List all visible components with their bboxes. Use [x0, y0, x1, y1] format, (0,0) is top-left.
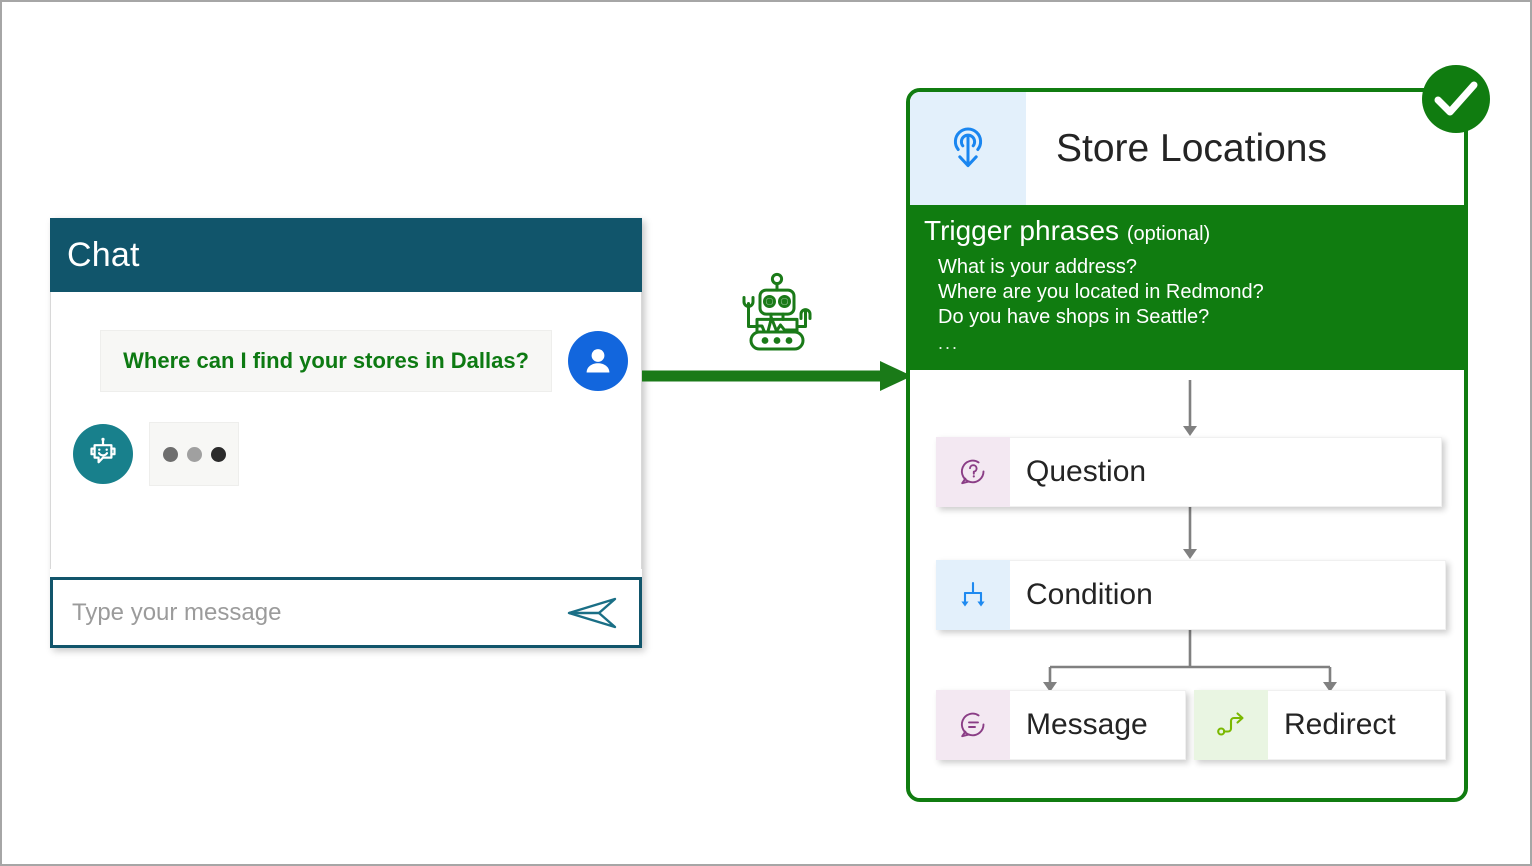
redirect-arrow-icon: [1215, 710, 1247, 740]
trigger-phrases-list: What is your address? Where are you loca…: [938, 255, 1464, 355]
flow-node-condition[interactable]: Condition: [936, 560, 1446, 630]
topic-title-bar: Store Locations: [910, 92, 1464, 205]
trigger-phrases-section: Trigger phrases (optional) What is your …: [910, 205, 1464, 370]
trigger-pin-icon: [944, 123, 992, 175]
message-bubble-icon: [957, 709, 989, 741]
chat-title: Chat: [67, 236, 140, 275]
user-avatar: [568, 331, 628, 391]
typing-dot: [163, 447, 178, 462]
green-arrow-right: [642, 358, 914, 394]
send-icon: [566, 596, 620, 630]
typing-dot: [187, 447, 202, 462]
trigger-phrases-optional-label: (optional): [1127, 223, 1210, 245]
check-circle-bg: [1422, 65, 1490, 133]
send-button[interactable]: [565, 591, 621, 635]
user-message-text: Where can I find your stores in Dallas?: [123, 348, 529, 373]
topic-card[interactable]: Store Locations Trigger phrases (optiona…: [906, 88, 1468, 802]
flow-node-message[interactable]: Message: [936, 690, 1186, 760]
flow-node-label: Condition: [1010, 560, 1446, 630]
flow-node-question[interactable]: Question: [936, 437, 1442, 507]
flow-node-redirect[interactable]: Redirect: [1194, 690, 1446, 760]
flow-node-label: Redirect: [1268, 690, 1446, 760]
typing-indicator: [149, 422, 239, 486]
bot-icon: [85, 436, 121, 472]
bot-avatar: [73, 424, 133, 484]
trigger-phrases-heading: Trigger phrases (optional): [924, 213, 1464, 249]
typing-dot: [211, 447, 226, 462]
robot-icon: [734, 270, 820, 356]
question-bubble-icon: [957, 456, 989, 488]
flow-node-label: Message: [1010, 690, 1186, 760]
message-icon-tile: [936, 690, 1010, 760]
flow-node-label: Question: [1010, 437, 1442, 507]
branch-arrows-icon: [958, 580, 988, 610]
person-icon: [581, 344, 615, 378]
chat-message-user: Where can I find your stores in Dallas?: [51, 292, 641, 392]
topic-title: Store Locations: [1026, 92, 1327, 205]
user-message-bubble: Where can I find your stores in Dallas?: [100, 330, 552, 392]
topic-flow-area: Question C: [910, 370, 1464, 802]
condition-icon-tile: [936, 560, 1010, 630]
chat-message-bot: [51, 392, 641, 486]
chat-window: Chat Where can I find your stores in Dal…: [50, 218, 642, 648]
diagram-canvas: Chat Where can I find your stores in Dal…: [0, 0, 1532, 866]
trigger-phrase-more: ...: [938, 331, 1464, 355]
chat-header: Chat: [50, 218, 642, 292]
chat-message-input[interactable]: [70, 598, 565, 628]
chat-input-bar[interactable]: [50, 577, 642, 648]
topic-icon-tile: [910, 92, 1026, 205]
trigger-phrase-item: Do you have shops in Seattle?: [938, 305, 1464, 329]
trigger-phrase-item: What is your address?: [938, 255, 1464, 279]
status-badge: [1421, 64, 1491, 134]
trigger-phrase-item: Where are you located in Redmond?: [938, 280, 1464, 304]
question-icon-tile: [936, 437, 1010, 507]
trigger-phrases-label: Trigger phrases: [924, 215, 1119, 246]
redirect-icon-tile: [1194, 690, 1268, 760]
chat-message-list: Where can I find your stores in Dallas?: [50, 292, 642, 569]
